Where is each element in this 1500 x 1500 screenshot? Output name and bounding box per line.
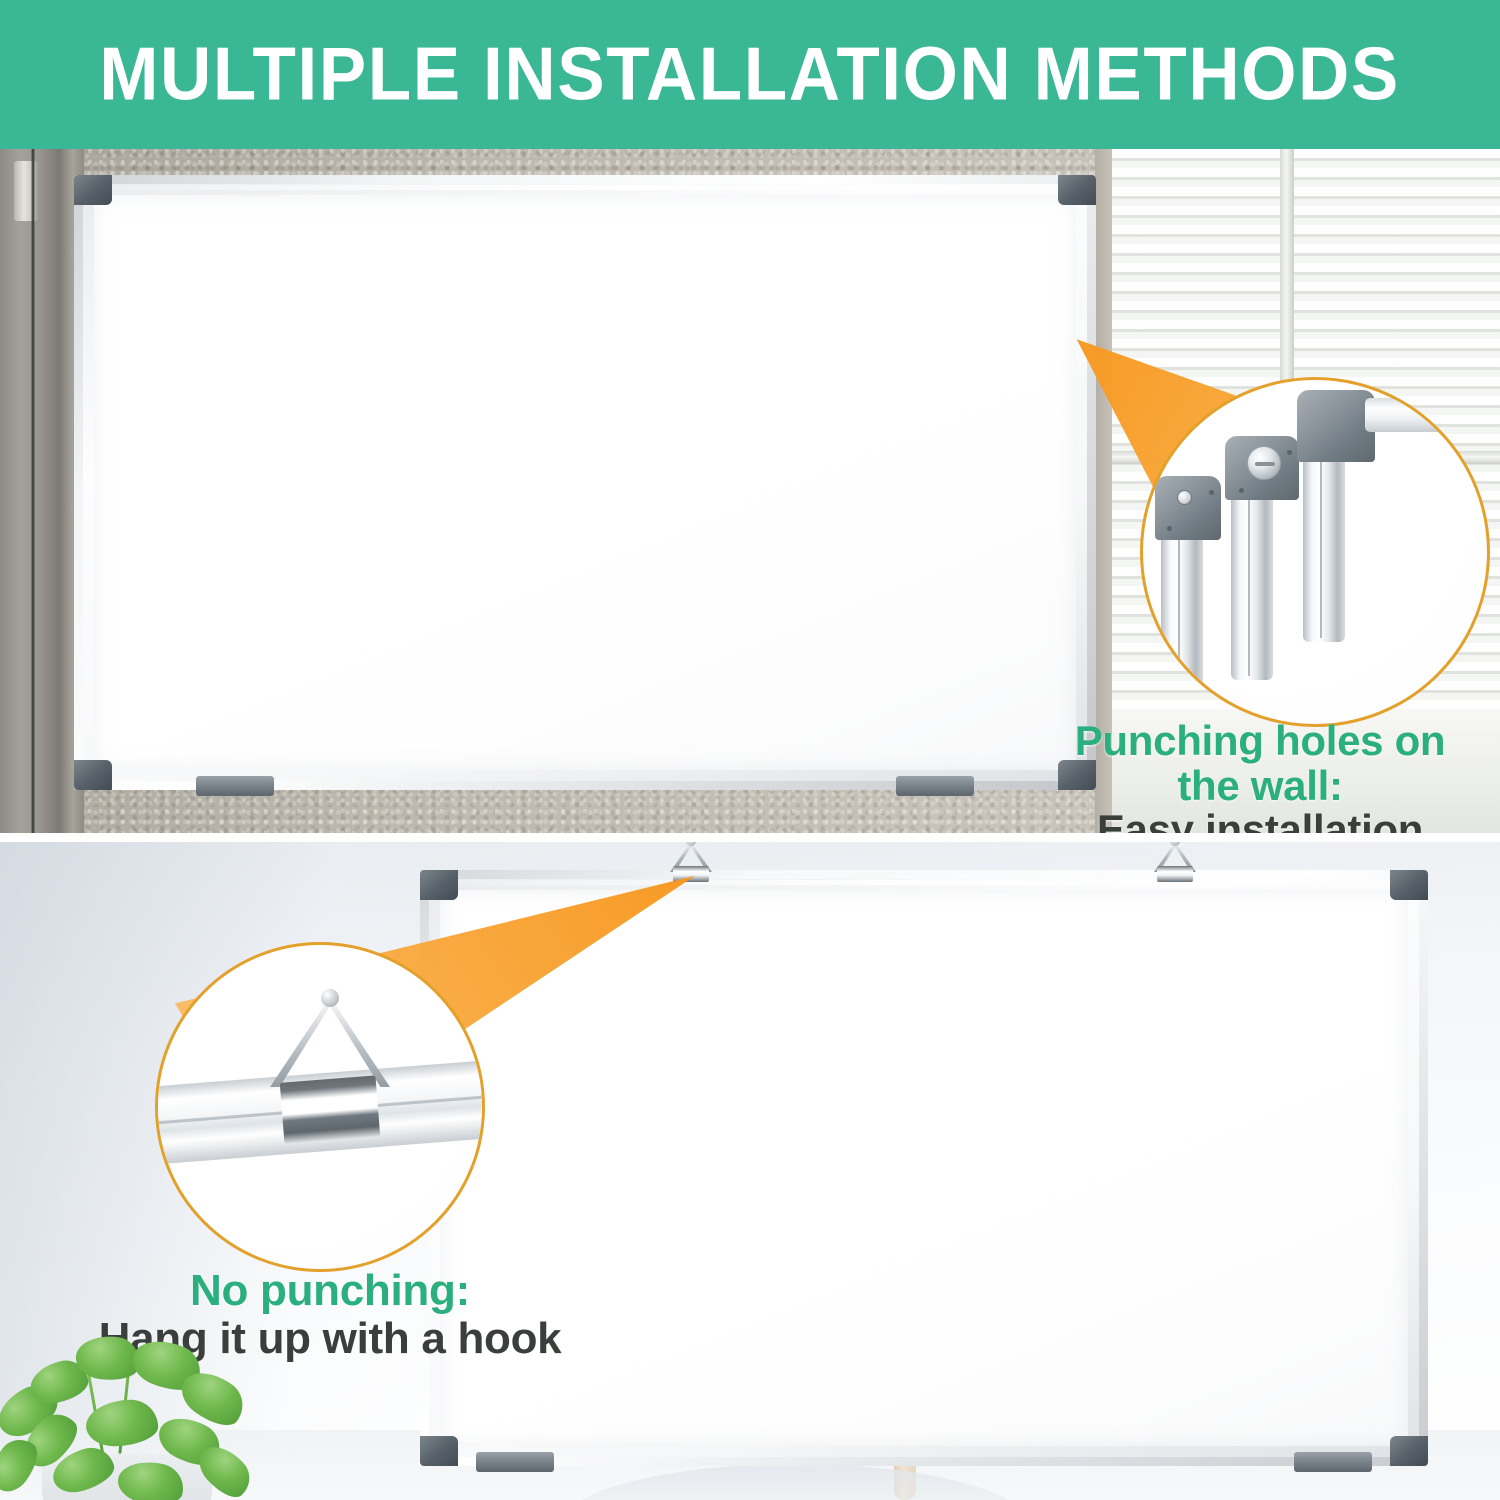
screw-icon bbox=[1247, 446, 1281, 480]
aluminium-rail bbox=[1231, 480, 1273, 680]
whiteboard-wall-mounted bbox=[74, 175, 1096, 790]
callout-heading-line-1: Punching holes on bbox=[1040, 719, 1480, 764]
mounting-hole-icon bbox=[1177, 490, 1192, 505]
hanger-clip bbox=[673, 866, 709, 882]
aluminium-rail bbox=[1161, 520, 1203, 720]
whiteboard-highlight bbox=[84, 185, 1086, 190]
triangle-hanger-zoomed bbox=[270, 997, 390, 1127]
door-panel bbox=[0, 149, 58, 833]
pen-tray-clip-left bbox=[476, 1452, 554, 1472]
callout-text-wall-mount: Punching holes on the wall: Easy install… bbox=[1040, 719, 1480, 833]
plant-leaf bbox=[85, 1399, 159, 1447]
hanger-wire bbox=[270, 997, 390, 1087]
screw-dot bbox=[1209, 490, 1214, 495]
panel-hook-hang: No punching: Hang it up with a hook bbox=[0, 842, 1500, 1500]
corner-cap-top-right bbox=[1390, 870, 1428, 900]
panel-wall-mount: Punching holes on the wall: Easy install… bbox=[0, 149, 1500, 833]
corner-bracket-cap bbox=[1155, 476, 1221, 540]
pen-tray-clip-left bbox=[196, 776, 274, 796]
pen-tray-clip-right bbox=[1294, 1452, 1372, 1472]
infographic-page: MULTIPLE INSTALLATION METHODS bbox=[0, 0, 1500, 1500]
header-banner: MULTIPLE INSTALLATION METHODS bbox=[0, 0, 1500, 149]
panel-divider bbox=[0, 833, 1500, 842]
screw-dot bbox=[1287, 450, 1292, 455]
triangle-hanger-hook-left bbox=[664, 842, 718, 874]
triangle-hanger-hook-right bbox=[1148, 842, 1202, 874]
hanger-knob-icon bbox=[321, 989, 339, 1007]
whiteboard-hook-hung bbox=[420, 870, 1428, 1466]
screw-dot bbox=[1239, 488, 1244, 493]
hanger-knob-icon bbox=[686, 842, 696, 846]
hanger-clip bbox=[1157, 866, 1193, 882]
callout-heading-line-2: the wall: bbox=[1040, 764, 1480, 809]
whiteboard-highlight bbox=[430, 880, 1418, 885]
hanger-knob-icon bbox=[1170, 842, 1180, 846]
hanger-clip bbox=[280, 1075, 381, 1144]
corner-cap-bottom-left bbox=[74, 760, 112, 790]
callout-heading: No punching: bbox=[60, 1267, 600, 1315]
callout-body-line-1: Easy installation bbox=[1040, 808, 1480, 833]
corner-cap-top-right bbox=[1058, 175, 1096, 205]
door-seam bbox=[31, 149, 35, 833]
corner-cap-top-left bbox=[420, 870, 458, 900]
pen-tray-clip-right bbox=[896, 776, 974, 796]
whiteboard-surface bbox=[94, 195, 1076, 770]
detail-circle-frame-brackets bbox=[1140, 377, 1490, 727]
corner-cap-bottom-right bbox=[1390, 1436, 1428, 1466]
corner-cap-bottom-left bbox=[420, 1436, 458, 1466]
potted-plant bbox=[0, 1321, 300, 1500]
corner-cap-top-left bbox=[74, 175, 112, 205]
corner-bracket-cap bbox=[1297, 390, 1375, 462]
screw-dot bbox=[1167, 526, 1172, 531]
detail-circle-hanger-hook bbox=[155, 942, 485, 1272]
horizontal-rail bbox=[1365, 398, 1490, 432]
aluminium-rail bbox=[1303, 442, 1345, 642]
page-title: MULTIPLE INSTALLATION METHODS bbox=[100, 31, 1401, 117]
